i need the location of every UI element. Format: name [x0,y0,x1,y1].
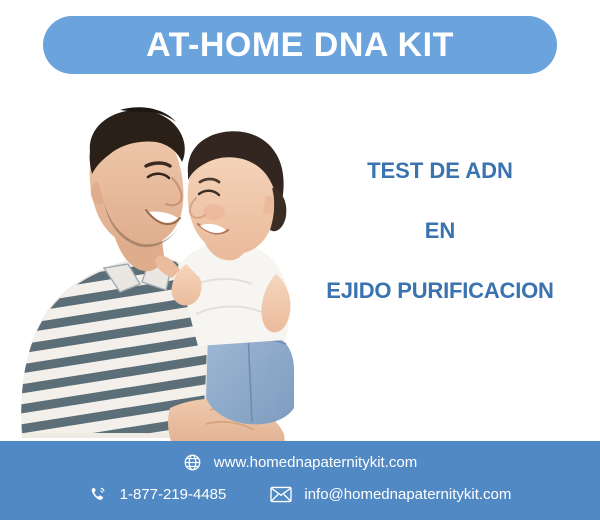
headline-line-1: TEST DE ADN [296,160,584,182]
footer-website-text[interactable]: www.homednapaternitykit.com [214,455,417,470]
headline-block: TEST DE ADN EN EJIDO PURIFICACION [296,160,584,302]
envelope-icon [270,486,292,503]
headline-line-3: EJIDO PURIFICACION [296,280,584,302]
footer-bar: www.homednapaternitykit.com 1-877-219-44… [0,441,600,520]
phone-icon [89,485,108,504]
header-banner: AT-HOME DNA KIT [43,16,557,74]
father-and-child-photo [0,78,300,453]
footer-contact-row: 1-877-219-4485 info@homednapaternitykit.… [0,485,600,504]
headline-line-2: EN [296,220,584,242]
page-title: AT-HOME DNA KIT [146,28,454,62]
globe-icon [183,453,202,472]
footer-phone-group: 1-877-219-4485 [89,485,227,504]
footer-email-text[interactable]: info@homednapaternitykit.com [304,487,511,502]
footer-email-group: info@homednapaternitykit.com [270,486,511,503]
poster-canvas: AT-HOME DNA KIT [0,0,600,520]
footer-phone-text[interactable]: 1-877-219-4485 [120,487,227,502]
footer-website-row: www.homednapaternitykit.com [0,453,600,472]
